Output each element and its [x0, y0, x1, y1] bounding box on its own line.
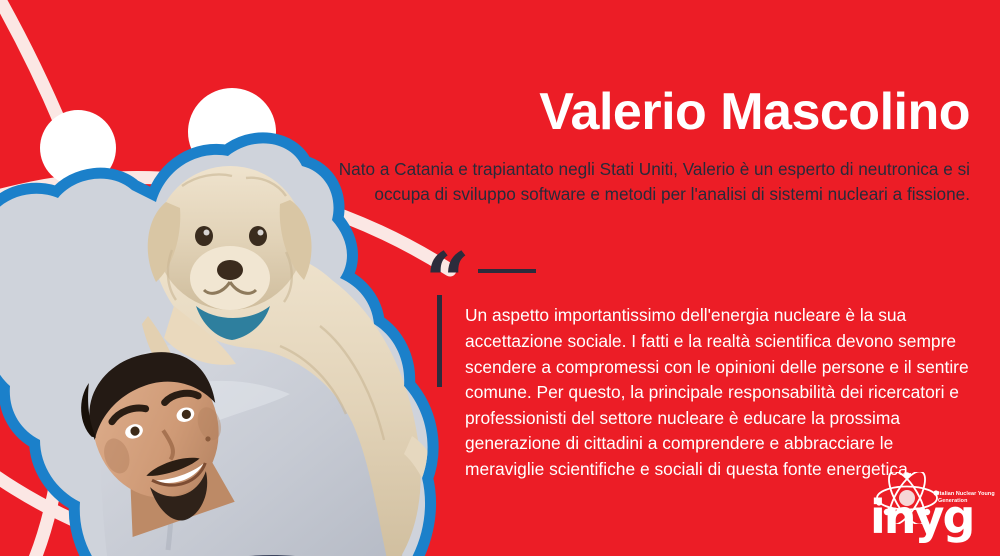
inyg-logo[interactable]: inyg Italian Nuclear Young Generation [868, 472, 990, 548]
bio-paragraph: Nato a Catania e trapiantato negli Stati… [330, 157, 970, 206]
quote-text: Un aspetto importantissimo dell'energia … [465, 303, 970, 482]
page-title: Valerio Mascolino [330, 85, 970, 140]
quote-accent-bar [437, 295, 442, 387]
slide-canvas: Valerio Mascolino Nato a Catania e trapi… [0, 0, 1000, 556]
quote-mark-icon: “ [425, 243, 468, 321]
logo-tagline: Italian Nuclear Young Generation [938, 491, 996, 506]
quote-rule-divider [478, 269, 536, 273]
